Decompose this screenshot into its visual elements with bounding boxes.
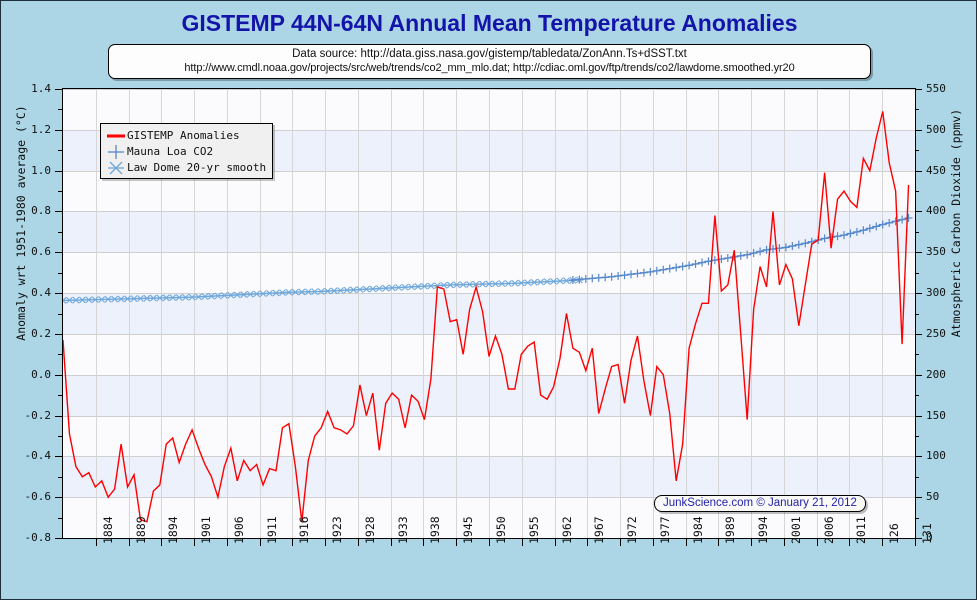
y-axis-right-minor-tick <box>915 518 919 519</box>
x-axis-tick <box>686 539 687 546</box>
legend-item-mauna-loa: Mauna Loa CO2 <box>105 143 266 159</box>
x-axis-tick-label: 1984 <box>691 516 705 544</box>
y-axis-left-tick <box>55 211 62 212</box>
x-axis-tick-label: 1911 <box>265 516 279 544</box>
y-axis-right-minor-tick <box>915 273 919 274</box>
y-axis-left-tick-label: 1.4 <box>1 82 51 95</box>
y-axis-right-tick <box>915 89 922 90</box>
y-axis-left-tick <box>55 538 62 539</box>
legend-label-law-dome: Law Dome 20-yr smooth <box>127 161 266 174</box>
y-axis-left-tick <box>55 89 62 90</box>
x-axis-tick-label: 1933 <box>396 516 410 544</box>
x-axis-tick <box>587 539 588 546</box>
y-axis-left-tick <box>55 416 62 417</box>
y-axis-right-tick <box>915 130 922 131</box>
x-axis-tick-label: 1950 <box>494 516 508 544</box>
x-axis-tick-label: 1962 <box>560 516 574 544</box>
x-axis-tick-label: 2001 <box>789 516 803 544</box>
y-axis-left-tick-label: 1.0 <box>1 164 51 177</box>
y-axis-left-minor-tick <box>58 191 62 192</box>
x-axis-tick-label: 1989 <box>723 516 737 544</box>
y-axis-right-minor-tick <box>915 314 919 315</box>
y-axis-left-tick-label: 0.4 <box>1 286 51 299</box>
chart-title: GISTEMP 44N-64N Annual Mean Temperature … <box>1 10 977 37</box>
y-axis-left-tick-label: 0.6 <box>1 245 51 258</box>
y-axis-left-tick-label: 0.2 <box>1 327 51 340</box>
y-axis-right-minor-tick <box>915 436 919 437</box>
x-axis-tick-label: 1977 <box>658 516 672 544</box>
y-axis-left-minor-tick <box>58 232 62 233</box>
x-axis-tick-label: 1938 <box>428 516 442 544</box>
y-axis-right-tick <box>915 293 922 294</box>
x-axis-tick <box>653 539 654 546</box>
y-axis-left-tick <box>55 375 62 376</box>
legend-item-law-dome: Law Dome 20-yr smooth <box>105 159 266 175</box>
x-axis-tick <box>96 539 97 546</box>
watermark: JunkScience.com © January 21, 2012 <box>654 495 866 512</box>
legend-item-gistemp: GISTEMP Anomalies <box>105 127 266 143</box>
y-axis-left-minor-tick <box>58 395 62 396</box>
y-axis-left-minor-tick <box>58 150 62 151</box>
y-axis-left-tick-label: -0.6 <box>1 490 51 503</box>
x-axis-tick <box>129 539 130 546</box>
y-axis-left-tick-label: -0.8 <box>1 531 51 544</box>
y-axis-left-tick <box>55 456 62 457</box>
y-axis-right-tick <box>915 497 922 498</box>
y-axis-right-tick <box>915 171 922 172</box>
data-source-line-1: Data source: http://data.giss.nasa.gov/g… <box>113 47 866 61</box>
y-axis-right-minor-tick <box>915 109 919 110</box>
x-axis-tick-label: 1884 <box>101 516 115 544</box>
y-axis-right-minor-tick <box>915 395 919 396</box>
y-axis-left-tick-label: 0.0 <box>1 368 51 381</box>
x-axis-tick-label: 1994 <box>756 516 770 544</box>
y-axis-right-tick-label: 50 <box>926 490 939 503</box>
y-axis-left-tick-label: -0.4 <box>1 449 51 462</box>
y-axis-right-tick-label: 350 <box>926 245 946 258</box>
cross-star-marker-icon <box>105 160 127 174</box>
y-axis-left-tick <box>55 252 62 253</box>
data-source-box: Data source: http://data.giss.nasa.gov/g… <box>108 44 871 79</box>
x-axis-tick-label: 1916 <box>297 516 311 544</box>
y-axis-right-minor-tick <box>915 354 919 355</box>
y-axis-right-tick-label: 100 <box>926 449 946 462</box>
x-axis-tick <box>751 539 752 546</box>
x-axis-tick <box>784 539 785 546</box>
x-axis-tick <box>161 539 162 546</box>
y-axis-right-tick <box>915 334 922 335</box>
y-axis-right-minor-tick <box>915 477 919 478</box>
x-axis-tick-label: 1906 <box>232 516 246 544</box>
y-axis-left-tick <box>55 171 62 172</box>
x-axis-tick <box>882 539 883 546</box>
x-axis-tick-label: 1923 <box>330 516 344 544</box>
y-axis-right-label: Atmospheric Carbon Dioxide (ppmv) <box>949 63 963 383</box>
x-axis-tick-label: 1955 <box>527 516 541 544</box>
x-axis-tick <box>358 539 359 546</box>
x-axis-tick <box>849 539 850 546</box>
y-axis-left-tick <box>55 130 62 131</box>
y-axis-right-tick-label: 200 <box>926 368 946 381</box>
x-axis-tick-label: 1894 <box>166 516 180 544</box>
y-axis-right-tick-label: 550 <box>926 82 946 95</box>
y-axis-left-minor-tick <box>58 354 62 355</box>
y-axis-right-tick-label: 450 <box>926 164 946 177</box>
x-axis-tick <box>456 539 457 546</box>
x-axis-tick-label: 126 <box>887 523 901 544</box>
x-axis-tick <box>423 539 424 546</box>
y-axis-right-tick-label: 150 <box>926 409 946 422</box>
x-axis-tick-label: 1945 <box>461 516 475 544</box>
x-axis-tick <box>555 539 556 546</box>
x-axis-tick <box>391 539 392 546</box>
x-axis-tick <box>325 539 326 546</box>
y-axis-right-tick-label: 250 <box>926 327 946 340</box>
x-axis-tick <box>227 539 228 546</box>
chart-legend: GISTEMP Anomalies Mauna Loa CO2 Law Dome… <box>100 123 273 179</box>
x-axis-tick <box>292 539 293 546</box>
data-source-line-2: http://www.cmdl.noaa.gov/projects/src/we… <box>113 61 866 75</box>
y-axis-left-tick <box>55 334 62 335</box>
legend-label-gistemp: GISTEMP Anomalies <box>127 129 240 142</box>
y-axis-right-minor-tick <box>915 150 919 151</box>
y-axis-left-tick <box>55 293 62 294</box>
x-axis-tick <box>915 539 916 546</box>
y-axis-right-tick-label: 500 <box>926 123 946 136</box>
x-axis-tick-label: 1901 <box>199 516 213 544</box>
y-axis-right-tick <box>915 456 922 457</box>
y-axis-left-minor-tick <box>58 314 62 315</box>
y-axis-right-tick-label: 300 <box>926 286 946 299</box>
x-axis-tick-label: 2006 <box>822 516 836 544</box>
x-axis-tick <box>489 539 490 546</box>
y-axis-right-minor-tick <box>915 191 919 192</box>
y-axis-left-minor-tick <box>58 518 62 519</box>
plus-marker-icon <box>105 144 127 158</box>
y-axis-left-tick <box>55 497 62 498</box>
y-axis-right-tick-label: 400 <box>926 204 946 217</box>
x-axis-tick <box>260 539 261 546</box>
x-axis-tick-label: 2011 <box>854 516 868 544</box>
y-axis-left-tick-label: 1.2 <box>1 123 51 136</box>
y-axis-left-minor-tick <box>58 273 62 274</box>
x-axis-tick <box>194 539 195 546</box>
y-axis-left-minor-tick <box>58 477 62 478</box>
legend-line-icon <box>105 128 127 142</box>
x-axis-tick <box>522 539 523 546</box>
x-axis-tick-label: 1928 <box>363 516 377 544</box>
y-axis-right-minor-tick <box>915 232 919 233</box>
y-axis-left-minor-tick <box>58 436 62 437</box>
x-axis-tick-label: 1972 <box>625 516 639 544</box>
chart-canvas: GISTEMP 44N-64N Annual Mean Temperature … <box>0 0 977 600</box>
y-axis-right-tick <box>915 416 922 417</box>
y-axis-right-tick <box>915 211 922 212</box>
y-axis-right-tick <box>915 252 922 253</box>
x-axis-tick <box>620 539 621 546</box>
y-axis-left-minor-tick <box>58 109 62 110</box>
y-axis-right-tick <box>915 375 922 376</box>
x-axis-tick <box>817 539 818 546</box>
y-axis-left-tick-label: -0.2 <box>1 409 51 422</box>
legend-label-mauna-loa: Mauna Loa CO2 <box>127 145 213 158</box>
x-axis-tick-label: 131 <box>920 523 934 544</box>
x-axis-tick-label: 1967 <box>592 516 606 544</box>
x-axis-tick <box>718 539 719 546</box>
y-axis-left-tick-label: 0.8 <box>1 204 51 217</box>
x-axis-tick-label: 1889 <box>134 516 148 544</box>
